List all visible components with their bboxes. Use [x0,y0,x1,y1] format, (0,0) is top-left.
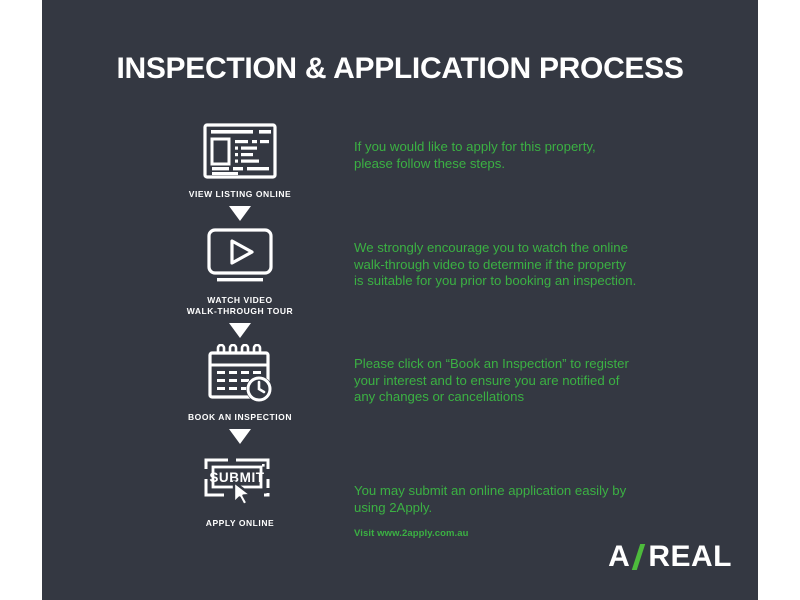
step-copy-book-inspection: Please click on “Book an Inspection” to … [354,356,694,406]
page-title: INSPECTION & APPLICATION PROCESS [42,52,758,86]
step-copy-apply-online: You may submit an online application eas… [354,483,694,516]
step-label: WATCH VIDEO WALK-THROUGH TOUR [150,295,330,317]
step-label: VIEW LISTING ONLINE [150,189,330,200]
calendar-clock-icon [150,343,330,405]
step-label: BOOK AN INSPECTION [150,412,330,423]
brand-logo: A REAL [608,540,732,574]
step-watch-video[interactable]: WATCH VIDEO WALK-THROUGH TOUR [150,226,330,317]
step-copy-watch-video: We strongly encourage you to watch the o… [354,240,694,290]
visit-link[interactable]: Visit www.2apply.com.au [354,528,469,539]
submit-label: SUBMIT [209,470,264,485]
triangle-down-icon [150,423,330,449]
logo-slash-icon [631,542,647,572]
logo-text-right: REAL [648,540,732,574]
step-copy-view-listing: If you would like to apply for this prop… [354,139,694,172]
step-label: APPLY ONLINE [150,518,330,529]
step-apply-online[interactable]: SUBMIT APPLY ONLINE [150,449,330,529]
submit-button-cursor-icon: SUBMIT [150,449,330,511]
triangle-down-icon [150,200,330,226]
browser-listing-icon [150,120,330,182]
infographic-panel: INSPECTION & APPLICATION PROCESS [42,0,758,600]
triangle-down-icon [150,317,330,343]
logo-text-left: A [608,540,630,574]
steps-column: VIEW LISTING ONLINE WATCH VIDEO WALK-THR… [150,120,330,529]
step-view-listing-online[interactable]: VIEW LISTING ONLINE [150,120,330,200]
video-play-monitor-icon [150,226,330,288]
step-book-inspection[interactable]: BOOK AN INSPECTION [150,343,330,423]
